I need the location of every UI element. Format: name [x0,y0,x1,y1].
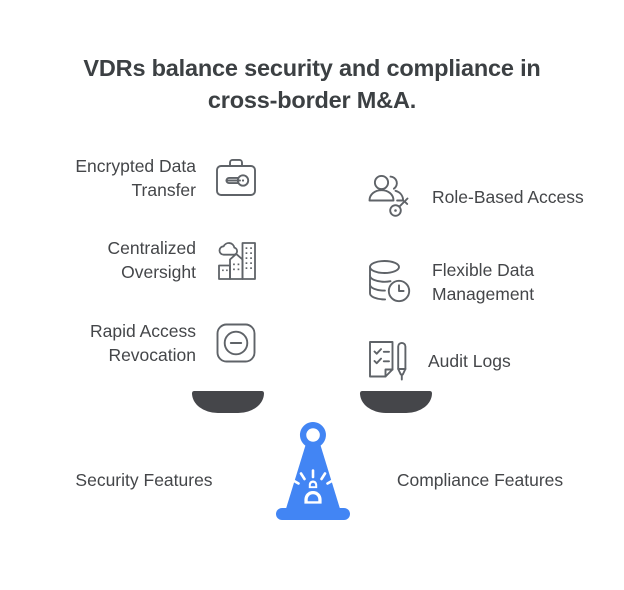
circle-minus-square-icon [210,317,262,369]
feature-label: Centralized Oversight [30,236,210,284]
title-line-2: cross-border M&A. [208,87,416,113]
group-label-security: Security Features [20,470,268,491]
feature-item-centralized-oversight: Centralized Oversight [30,232,262,288]
feature-item-flexible-data-management: Flexible Data Management [362,253,612,311]
users-key-icon [362,169,418,225]
feature-label: Encrypted Data Transfer [30,154,210,202]
feature-label: Flexible Data Management [418,258,612,306]
feature-item-rapid-access-revocation: Rapid Access Revocation [30,315,262,371]
checklist-pen-icon [362,335,414,387]
beacon-fulcrum-icon [258,422,368,530]
briefcase-key-icon [210,152,262,204]
feature-item-encrypted-data-transfer: Encrypted Data Transfer [30,150,262,206]
database-clock-icon [362,254,418,310]
feature-label: Rapid Access Revocation [30,319,210,367]
cloud-city-icon [210,234,262,286]
group-label-compliance: Compliance Features [356,470,604,491]
page-title: VDRs balance security and compliance in … [62,52,562,117]
feature-label: Role-Based Access [418,185,584,209]
feature-item-role-based-access: Role-Based Access [362,168,612,226]
feature-label: Audit Logs [414,349,511,373]
balance-pan-security [192,391,264,413]
feature-item-audit-logs: Audit Logs [362,334,612,388]
infographic-canvas: VDRs balance security and compliance in … [0,0,624,590]
title-line-1: VDRs balance security and compliance in [83,55,540,81]
balance-pan-compliance [360,391,432,413]
